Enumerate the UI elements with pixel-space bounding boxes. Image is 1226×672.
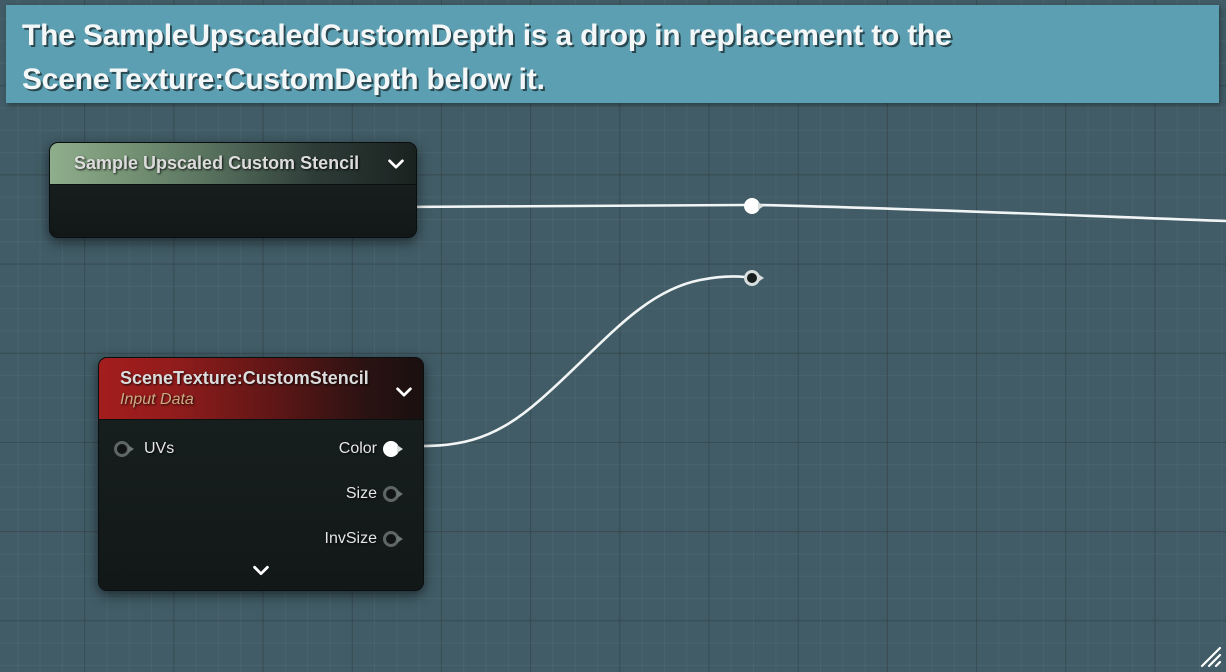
pin-label-size-output: Size: [346, 485, 377, 503]
resize-grip[interactable]: [1196, 642, 1222, 668]
graph-canvas[interactable]: The SampleUpscaledCustomDepth is a drop …: [0, 0, 1226, 672]
pin-size-output[interactable]: [383, 485, 405, 503]
node-sample-upscaled-custom-stencil[interactable]: Sample Upscaled Custom Stencil UVs: [49, 142, 417, 238]
pin-uvs-input[interactable]: [114, 440, 136, 458]
node-scene-texture-custom-stencil[interactable]: SceneTexture:CustomStencil Input Data UV…: [98, 357, 424, 591]
node-header[interactable]: Sample Upscaled Custom Stencil: [50, 143, 416, 185]
pin-arrow-icon: [128, 445, 134, 453]
pin-arrow-icon: [397, 445, 403, 453]
node-title: Sample Upscaled Custom Stencil: [74, 153, 359, 174]
stencil-output-wire-continued: [760, 205, 1226, 221]
comment-box[interactable]: The SampleUpscaledCustomDepth is a drop …: [6, 5, 1219, 103]
upper-loose-pin[interactable]: [744, 197, 766, 215]
pin-arrow-icon: [397, 535, 403, 543]
pin-arrow-icon: [397, 490, 403, 498]
chevron-down-icon[interactable]: [385, 153, 407, 175]
node-subtitle: Input Data: [120, 391, 194, 409]
pin-arrow-icon: [758, 202, 764, 210]
scenetexture-color-wire: [403, 276, 745, 446]
expand-chevron-down-icon[interactable]: [250, 559, 272, 581]
pin-color-output[interactable]: [383, 440, 405, 458]
stencil-output-wire: [398, 205, 745, 207]
node-body: UVs Color Size InvSize: [99, 420, 423, 589]
node-body: UVs: [50, 185, 416, 236]
pin-label-invsize-output: InvSize: [325, 530, 377, 548]
node-title: SceneTexture:CustomStencil: [120, 368, 369, 389]
lower-loose-pin[interactable]: [744, 269, 766, 287]
pin-label-color-output: Color: [339, 440, 377, 458]
pin-arrow-icon: [758, 274, 764, 282]
pin-label-uvs-input: UVs: [144, 440, 174, 458]
chevron-down-icon[interactable]: [393, 381, 415, 403]
node-header[interactable]: SceneTexture:CustomStencil Input Data: [99, 358, 423, 420]
comment-text: The SampleUpscaledCustomDepth is a drop …: [22, 14, 1209, 102]
pin-invsize-output[interactable]: [383, 530, 405, 548]
